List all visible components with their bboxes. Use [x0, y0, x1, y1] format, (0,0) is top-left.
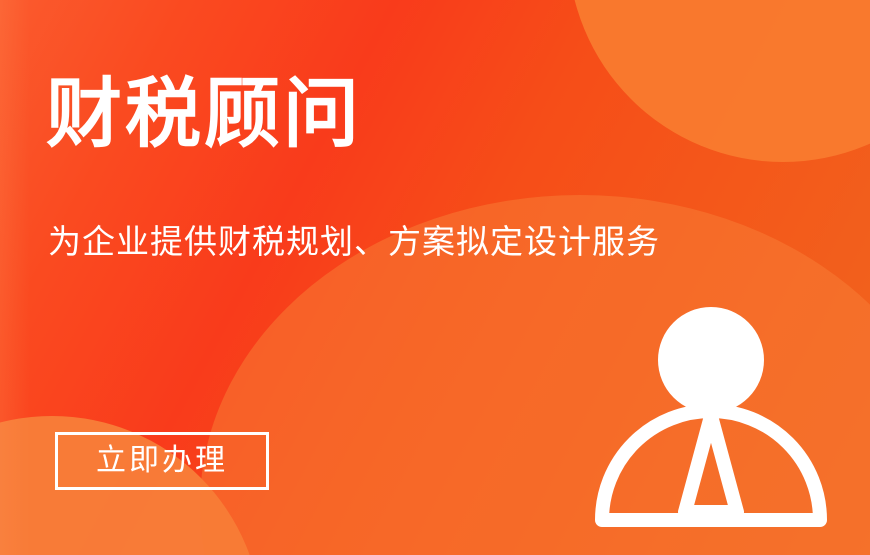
apply-now-button[interactable]: 立即办理 [55, 432, 269, 490]
banner-title: 财税顾问 [46, 77, 362, 153]
banner-content: 财税顾问 为企业提供财税规划、方案拟定设计服务 立即办理 [0, 0, 870, 555]
banner-subtitle: 为企业提供财税规划、方案拟定设计服务 [48, 220, 660, 265]
person-head-circle [658, 307, 764, 413]
promo-banner: 财税顾问 为企业提供财税规划、方案拟定设计服务 立即办理 [0, 0, 870, 555]
person-advisor-icon [586, 296, 836, 536]
person-necktie-triangle [685, 416, 737, 512]
